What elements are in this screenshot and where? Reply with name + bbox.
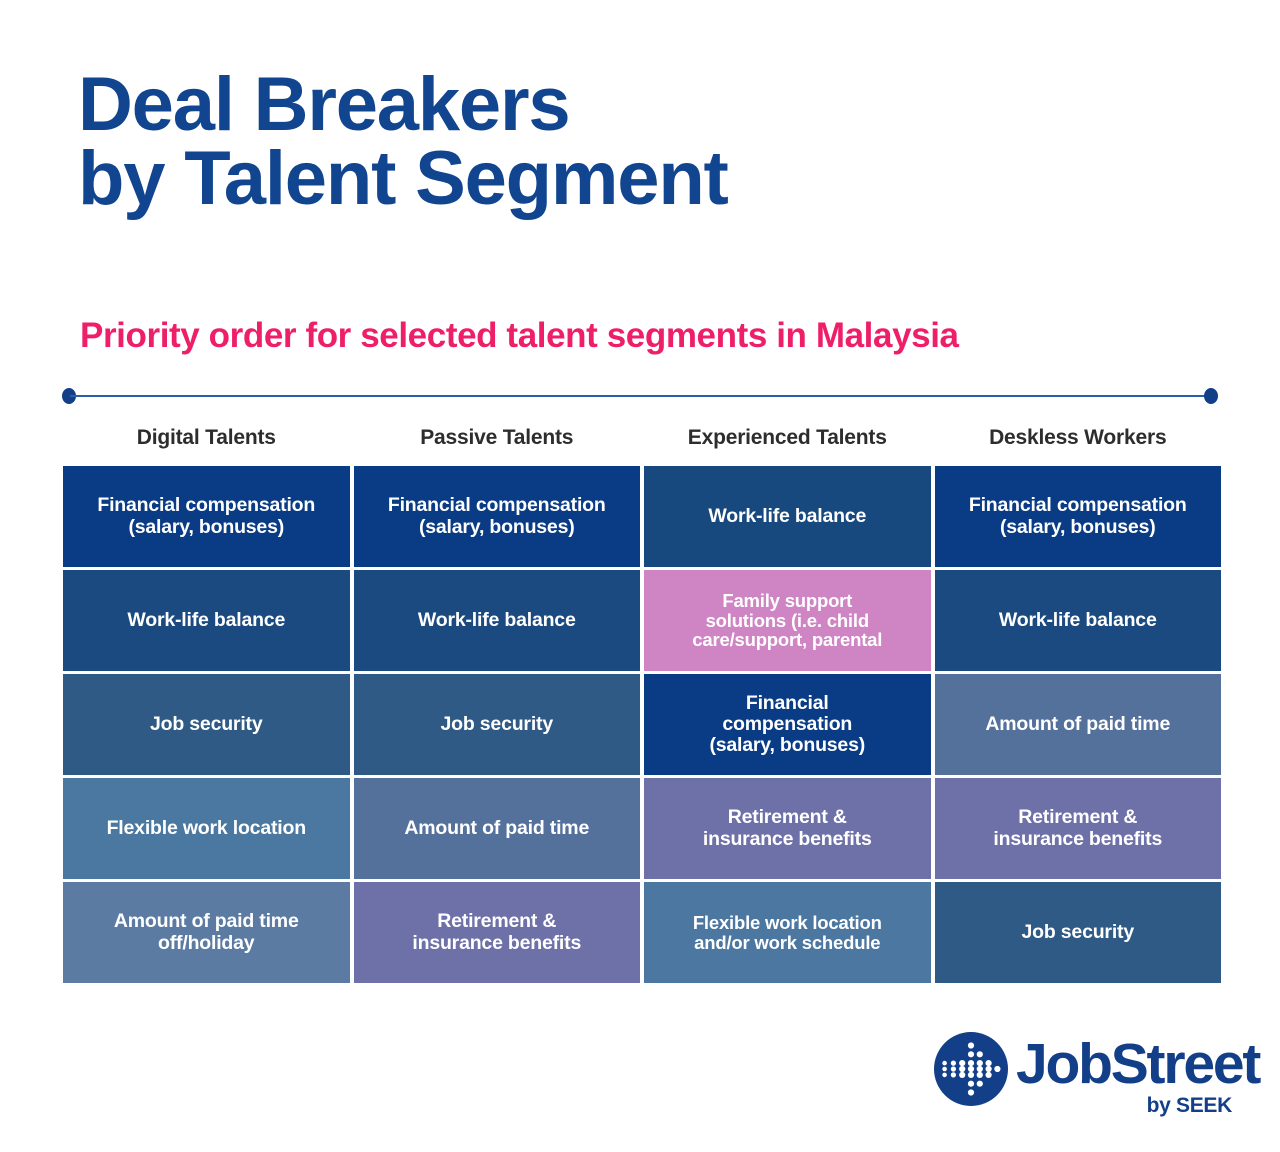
table-cell: Financial compensation (salary, bonuses) — [935, 466, 1222, 567]
column-header-deskless-workers: Deskless Workers — [935, 426, 1222, 450]
table-column-digital-talents: Financial compensation (salary, bonuses)… — [63, 466, 350, 983]
page-subtitle: Priority order for selected talent segme… — [80, 316, 1220, 356]
table-cell: Work-life balance — [935, 570, 1222, 671]
table-cell: Job security — [935, 882, 1222, 983]
table-cell: Flexible work location — [63, 778, 350, 879]
table-cell: Job security — [354, 674, 641, 775]
jobstreet-tagline: by SEEK — [1147, 1094, 1232, 1118]
table-cell: Amount of paid time off/holiday — [63, 882, 350, 983]
jobstreet-logo: JobStreet by SEEK — [934, 1032, 1234, 1124]
table-column-experienced-talents: Work-life balance Family support solutio… — [644, 466, 931, 983]
table-cell: Work-life balance — [354, 570, 641, 671]
jobstreet-arrow-circle-icon — [934, 1032, 1008, 1106]
table-cell: Work-life balance — [644, 466, 931, 567]
table-cell: Retirement & insurance benefits — [935, 778, 1222, 879]
table-cell: Financial compensation (salary, bonuses) — [644, 674, 931, 775]
column-header-experienced-talents: Experienced Talents — [644, 426, 931, 450]
table-cell: Family support solutions (i.e. child car… — [644, 570, 931, 671]
table-cell: Retirement & insurance benefits — [354, 882, 641, 983]
jobstreet-wordmark: JobStreet — [1016, 1036, 1259, 1093]
page-title: Deal Breakers by Talent Segment — [78, 68, 1078, 217]
table-cell: Work-life balance — [63, 570, 350, 671]
table-header-row: Digital Talents Passive Talents Experien… — [63, 414, 1221, 462]
table-column-passive-talents: Financial compensation (salary, bonuses)… — [354, 466, 641, 983]
divider-dot-right-icon — [1204, 388, 1218, 404]
column-header-passive-talents: Passive Talents — [354, 426, 641, 450]
table-cell: Job security — [63, 674, 350, 775]
divider — [62, 388, 1218, 404]
column-header-digital-talents: Digital Talents — [63, 426, 350, 450]
infographic-page: Deal Breakers by Talent Segment Priority… — [0, 0, 1280, 1152]
table-cell: Retirement & insurance benefits — [644, 778, 931, 879]
talent-segment-table: Digital Talents Passive Talents Experien… — [63, 414, 1221, 983]
table-column-deskless-workers: Financial compensation (salary, bonuses)… — [935, 466, 1222, 983]
table-cell: Amount of paid time — [354, 778, 641, 879]
table-cell: Amount of paid time — [935, 674, 1222, 775]
table-cell: Financial compensation (salary, bonuses) — [63, 466, 350, 567]
table-body: Financial compensation (salary, bonuses)… — [63, 466, 1221, 983]
table-cell: Financial compensation (salary, bonuses) — [354, 466, 641, 567]
divider-line — [70, 395, 1210, 397]
table-cell: Flexible work location and/or work sched… — [644, 882, 931, 983]
